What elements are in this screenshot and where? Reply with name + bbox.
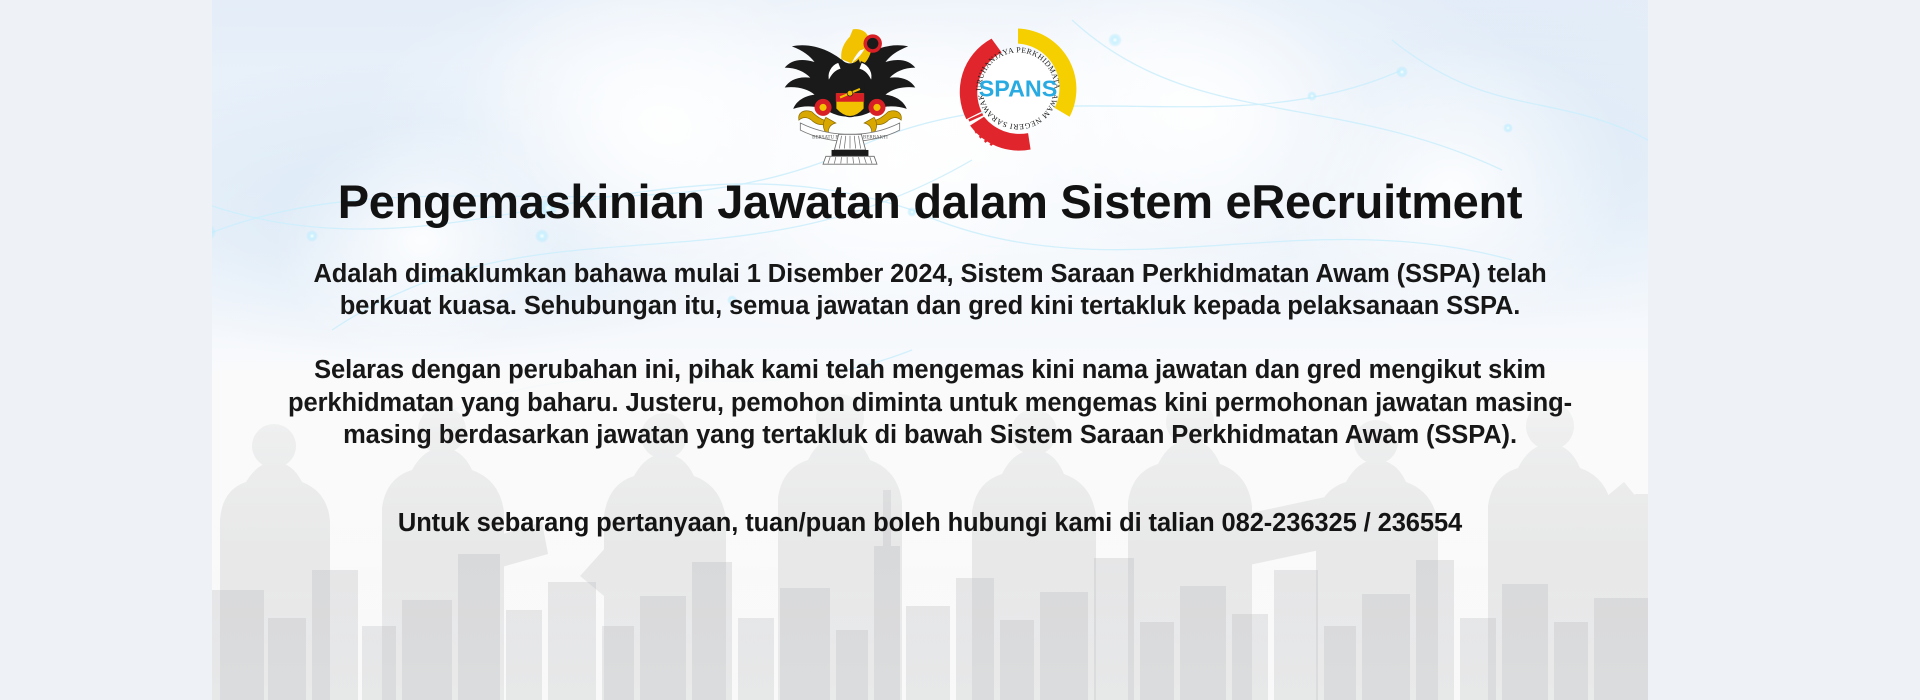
announcement-paragraph-2: Selaras dengan perubahan ini, pihak kami… bbox=[270, 354, 1590, 452]
announcement-body: Adalah dimaklumkan bahawa mulai 1 Disemb… bbox=[270, 228, 1590, 452]
announcement-paragraph-1: Adalah dimaklumkan bahawa mulai 1 Disemb… bbox=[270, 258, 1590, 323]
screenshot-root: BERSATU BERUSAHA BERBAKTI bbox=[0, 0, 1920, 700]
letterbox-right bbox=[1648, 0, 1920, 700]
contact-line: Untuk sebarang pertanyaan, tuan/puan bol… bbox=[270, 452, 1590, 540]
announcement-content: Pengemaskinian Jawatan dalam Sistem eRec… bbox=[212, 0, 1648, 539]
announcement-banner: BERSATU BERUSAHA BERBAKTI bbox=[212, 0, 1648, 700]
page-title: Pengemaskinian Jawatan dalam Sistem eRec… bbox=[212, 0, 1648, 228]
letterbox-left bbox=[0, 0, 212, 700]
